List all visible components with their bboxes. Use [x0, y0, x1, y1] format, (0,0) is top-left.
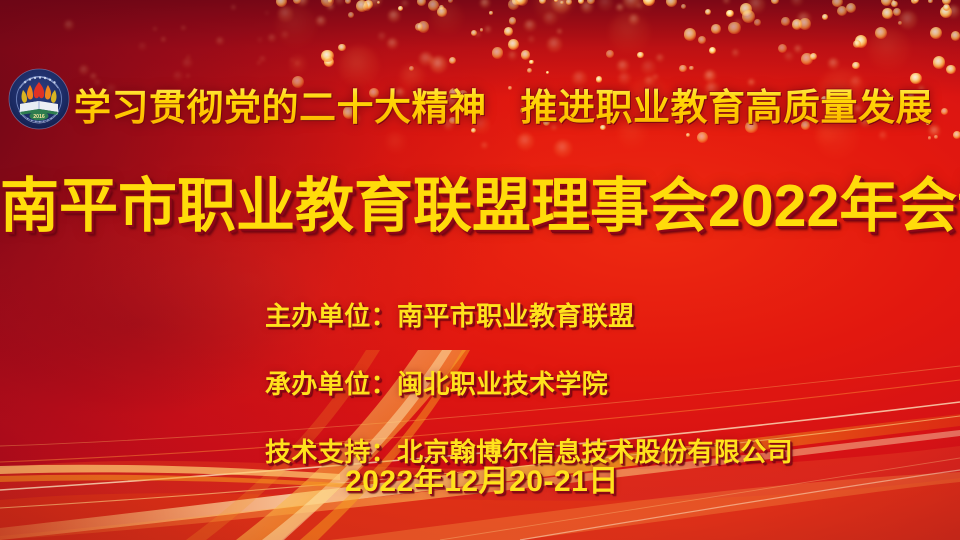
- banner-headline: 南平市职业教育联盟理事会2022年会议: [0, 158, 960, 243]
- tagline-part-1: 学习贯彻党的二十大精神: [74, 77, 487, 131]
- tagline-part-2: 推进职业教育高质量发展: [521, 77, 934, 131]
- conference-banner: 2016: [0, 0, 960, 540]
- emblem-year-label: 2016: [33, 114, 45, 120]
- detail-line-host: 承办单位：闽北职业技术学院: [265, 364, 865, 401]
- banner-date: 2022年12月20-21日: [345, 456, 619, 500]
- tagline-row: 学习贯彻党的二十大精神 推进职业教育高质量发展: [74, 74, 954, 134]
- alliance-emblem-icon: 2016: [8, 68, 70, 130]
- detail-line-organizer: 主办单位：南平市职业教育联盟: [265, 296, 865, 333]
